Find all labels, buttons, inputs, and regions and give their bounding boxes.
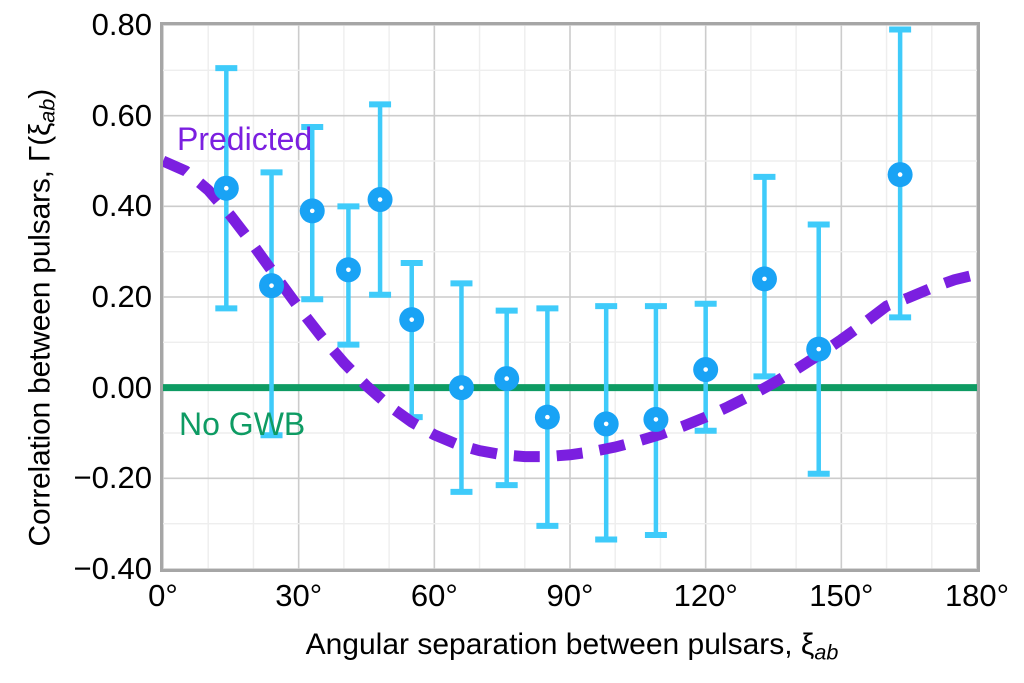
data-point-center: [898, 172, 903, 177]
y-axis-title: Correlation between pulsars, Γ(ξab): [23, 18, 60, 618]
y-axis-title-prefix: Correlation between pulsars, Γ(: [23, 136, 56, 547]
data-point-center: [224, 186, 229, 191]
x-axis-title-prefix: Angular separation between pulsars,: [306, 628, 801, 661]
data-layer: [163, 25, 977, 569]
x-axis-tick-label: 60°: [411, 580, 458, 611]
data-point-center: [378, 197, 383, 202]
data-point-center: [346, 268, 351, 273]
data-point-center: [703, 367, 708, 372]
x-axis-title: Angular separation between pulsars, ξab: [160, 628, 984, 665]
data-point-center: [654, 417, 659, 422]
x-axis-tick-label: 90°: [547, 580, 594, 611]
x-axis-tick-label: 180°: [945, 580, 1009, 611]
x-axis-title-subscript: ab: [814, 639, 838, 664]
y-axis-title-subscript: ab: [35, 99, 60, 123]
data-point-center: [604, 422, 609, 427]
x-axis-tick-label: 120°: [674, 580, 738, 611]
data-point-center: [762, 277, 767, 282]
data-point-center: [459, 385, 464, 390]
data-point-center: [504, 376, 509, 381]
data-point-center: [545, 415, 550, 420]
plot-area: Predicted No GWB: [160, 22, 980, 572]
data-point-center: [409, 317, 414, 322]
x-axis-title-symbol: ξ: [801, 628, 814, 661]
x-axis-tick-label: 0°: [148, 580, 178, 611]
x-axis-tick-label: 150°: [809, 580, 873, 611]
data-point-center: [816, 347, 821, 352]
data-point-center: [310, 209, 315, 214]
predicted-curve-label: Predicted: [177, 123, 312, 155]
plot-inner: Predicted No GWB: [163, 25, 977, 569]
y-axis-title-symbol: ξ: [23, 123, 56, 136]
no-gwb-label: No GWB: [179, 408, 305, 440]
y-axis-title-suffix: ): [23, 89, 56, 99]
figure-root: 0.800.600.400.200.00−0.20−0.40 Correlati…: [0, 0, 1024, 683]
x-axis-tick-label: 30°: [275, 580, 322, 611]
data-point-center: [269, 283, 274, 288]
